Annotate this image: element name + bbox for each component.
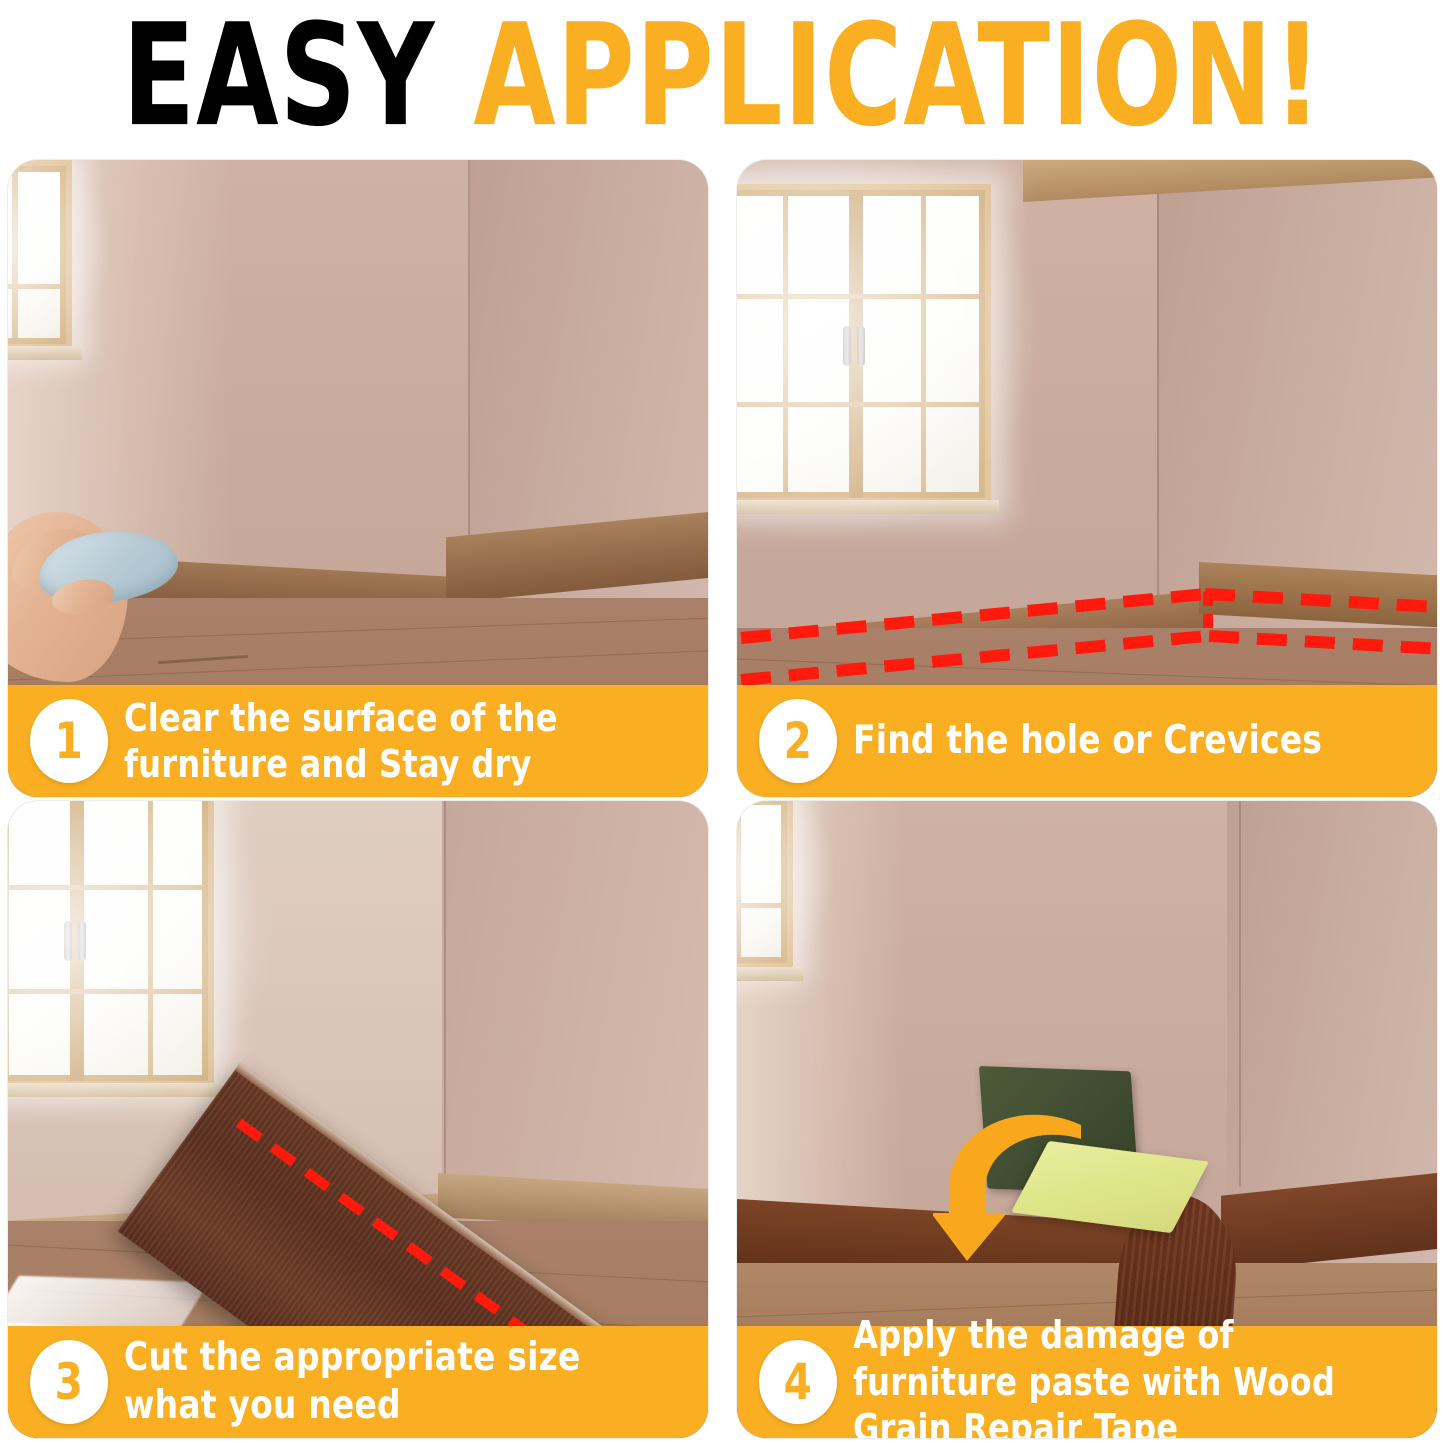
step-1-caption-text: Clear the surface of the furniture and S…: [124, 695, 656, 788]
page-title: EASY APPLICATION!: [122, 5, 1322, 146]
step-2-caption-text: Find the hole or Crevices: [853, 717, 1322, 765]
window-glow: [8, 801, 272, 1117]
page-title-part-application: APPLICATION!: [473, 0, 1323, 158]
step-1-number: 1: [55, 716, 83, 766]
step-3-number: 3: [55, 1357, 83, 1407]
step-2-badge: 2: [759, 699, 837, 783]
step-card-2: 2 Find the hole or Crevices: [737, 160, 1437, 797]
step-1-caption-bar: 1 Clear the surface of the furniture and…: [8, 685, 708, 797]
step-4-badge: 4: [759, 1340, 837, 1424]
step-4-number: 4: [784, 1357, 812, 1407]
step-4-caption-text: Apply the damage of furniture paste with…: [853, 1312, 1385, 1438]
step-4-caption-bar: 4 Apply the damage of furniture paste wi…: [737, 1326, 1437, 1438]
wall-corner-line: [444, 801, 446, 1201]
wall-corner-line: [1239, 801, 1241, 1187]
steps-grid: 1 Clear the surface of the furniture and…: [8, 160, 1437, 1438]
curved-arrow-icon: [933, 1091, 1103, 1271]
window-glow: [8, 160, 112, 370]
wall-corner-line: [468, 160, 470, 570]
step-3-caption-bar: 3 Cut the appropriate size what you need: [8, 1326, 708, 1438]
step-3-caption-text: Cut the appropriate size what you need: [124, 1334, 656, 1429]
step-2-number: 2: [784, 716, 812, 766]
step-card-4: 4 Apply the damage of furniture paste wi…: [737, 801, 1437, 1438]
step-card-3: 3 Cut the appropriate size what you need: [8, 801, 708, 1438]
step-1-badge: 1: [30, 699, 108, 783]
page-header: EASY APPLICATION!: [0, 0, 1445, 152]
wall-corner-line: [1157, 176, 1159, 620]
infographic-page: EASY APPLICATION!: [0, 0, 1445, 1445]
red-dashed-corner-tick: [1203, 592, 1213, 632]
step-2-caption-bar: 2 Find the hole or Crevices: [737, 685, 1437, 797]
window-glow: [737, 801, 837, 993]
window-glow: [737, 160, 1037, 540]
step-card-1: 1 Clear the surface of the furniture and…: [8, 160, 708, 797]
page-title-part-easy: EASY: [122, 0, 473, 158]
step-3-badge: 3: [30, 1340, 108, 1424]
